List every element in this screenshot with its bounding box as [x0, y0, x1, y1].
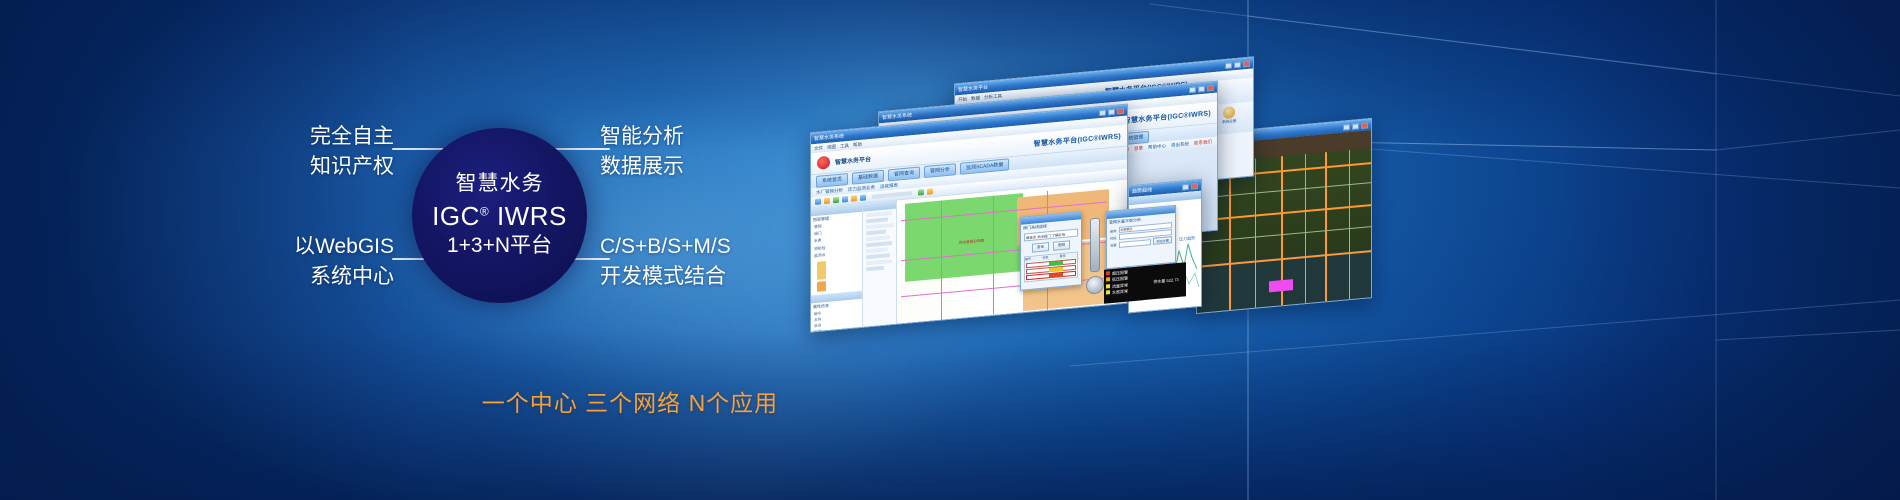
- dialog-water-balance[interactable]: 管网水量平衡分析 管网: 全部管段 时段: 流量: 开始计算: [1106, 205, 1176, 269]
- circle-line2: IGC® IWRS: [432, 201, 567, 232]
- tool-layer-icon[interactable]: [918, 189, 924, 196]
- legend-item-1: 低压报警: [1112, 276, 1128, 282]
- label-bottom-left-line2: 系统中心: [236, 262, 394, 292]
- label-top-left-line1: 完全自主: [246, 122, 394, 152]
- sim-field-2-label: 流量:: [1110, 242, 1117, 248]
- sim-field-0-label: 管网:: [1110, 228, 1117, 234]
- feature-list-panel[interactable]: [863, 201, 897, 332]
- link-b-1[interactable]: 登录: [1134, 145, 1143, 152]
- chart-buttons[interactable]: [1182, 182, 1198, 189]
- label-top-left-line2: 知识产权: [246, 152, 394, 182]
- sim-field-1-label: 时段:: [1110, 235, 1117, 241]
- valve-query-button[interactable]: 查询: [1032, 242, 1049, 253]
- valve-th-2: 管径: [1060, 253, 1077, 259]
- window-a-buttons[interactable]: [1099, 107, 1124, 115]
- label-bottom-left-line1: 以WebGIS: [236, 232, 394, 262]
- link-b-2[interactable]: 帮助中心: [1148, 143, 1166, 151]
- dialog-valve-selection[interactable]: 阀门关闭选择 爆管点 关闭阀门 了解影响 查询 删除 编号 状态 管径: [1020, 211, 1082, 291]
- window-a-title: 智慧水务系统: [814, 132, 844, 142]
- tool-select-icon[interactable]: [833, 197, 839, 204]
- window-a-brand-text: 智慧水务平台: [835, 154, 871, 166]
- legend-readout-value: 供水量 522.73: [1148, 264, 1184, 297]
- circle-igc: IGC: [432, 201, 480, 231]
- tool-identify-icon[interactable]: [851, 195, 857, 202]
- circle-line1: 智慧水务: [456, 172, 544, 197]
- valve-th-0: 编号: [1025, 256, 1042, 262]
- alarm-legend: 超压报警 低压报警 流量异常 水质异常: [1106, 268, 1148, 302]
- circle-line3: 1+3+N平台: [447, 234, 552, 259]
- label-bottom-right-line1: C/S+B/S+M/S: [600, 232, 731, 262]
- banner-caption: 一个中心 三个网络 N个应用: [420, 384, 840, 418]
- valve-dialog-table[interactable]: 编号 状态 管径: [1024, 252, 1078, 283]
- circle-iwrs: IWRS: [497, 201, 567, 231]
- menu-a-1[interactable]: 视图: [827, 144, 836, 151]
- feature-list-header: [863, 201, 896, 212]
- menu-a-2[interactable]: 工具: [840, 142, 849, 149]
- label-top-left: 完全自主 知识产权: [246, 122, 394, 182]
- tool-zoom-icon[interactable]: [824, 198, 830, 205]
- chart-title: 趋势曲线: [1132, 186, 1152, 195]
- tool-pan-icon[interactable]: [815, 198, 821, 205]
- ribbon-tab-1[interactable]: 数据: [971, 95, 980, 102]
- tool-query-icon[interactable]: [927, 188, 933, 195]
- label-top-right-line1: 智能分析: [600, 122, 684, 152]
- sim-run-button[interactable]: 开始计算: [1153, 236, 1172, 245]
- map-zoom-slider[interactable]: [1090, 218, 1100, 273]
- window-a-platform-title: 智慧水务平台(IGC®IWRS): [1034, 131, 1121, 149]
- ribbon-tab-0[interactable]: 开始: [958, 96, 967, 103]
- tool-measure-icon[interactable]: [842, 196, 848, 203]
- legend-item-3: 水质异常: [1112, 289, 1128, 295]
- ribbon-tab-2[interactable]: 分析工具: [984, 93, 1002, 101]
- label-top-right: 智能分析 数据展示: [600, 122, 684, 182]
- banner-stage: 卫星影像图: [0, 0, 1900, 500]
- label-bottom-right: C/S+B/S+M/S 开发模式结合: [600, 232, 731, 292]
- rule-top-left: [392, 148, 448, 150]
- brand-logo-icon: [817, 156, 830, 170]
- layer-tree-panel[interactable]: 图层管理 管网 阀门 水表 消防栓 监测点 属性信息 编号 名称: [811, 204, 863, 333]
- ribbon-icon-7[interactable]: 系统设置: [1222, 106, 1236, 125]
- label-top-right-line2: 数据展示: [600, 152, 684, 182]
- tool-print-icon[interactable]: [860, 194, 866, 201]
- center-circle-badge: 智慧水务 IGC® IWRS 1+3+N平台: [412, 128, 587, 303]
- subnav-a-2[interactable]: 运营报表: [880, 182, 898, 190]
- label-bottom-right-line2: 开发模式结合: [600, 262, 731, 292]
- menu-a-0[interactable]: 文件: [814, 145, 823, 152]
- window-c-title: 智慧水务平台: [958, 84, 988, 94]
- menu-a-3[interactable]: 帮助: [853, 141, 862, 148]
- valve-th-1: 状态: [1042, 254, 1059, 260]
- registered-mark-icon: ®: [480, 205, 489, 219]
- link-b-4[interactable]: 联系我们: [1194, 139, 1212, 147]
- window-b-buttons[interactable]: [1189, 84, 1214, 92]
- valve-delete-button[interactable]: 删除: [1053, 240, 1070, 251]
- link-b-3[interactable]: 退出系统: [1171, 141, 1189, 149]
- window-b-title: 智慧水务系统: [882, 111, 912, 121]
- layer-items[interactable]: 管网 阀门 水表 消防栓 监测点: [811, 220, 862, 261]
- window-c-buttons[interactable]: [1225, 60, 1250, 68]
- satellite-window-buttons[interactable]: [1343, 122, 1368, 130]
- label-bottom-left: 以WebGIS 系统中心: [236, 232, 394, 292]
- window-b-platform-title: 智慧水务平台(IGC®IWRS): [1124, 108, 1211, 126]
